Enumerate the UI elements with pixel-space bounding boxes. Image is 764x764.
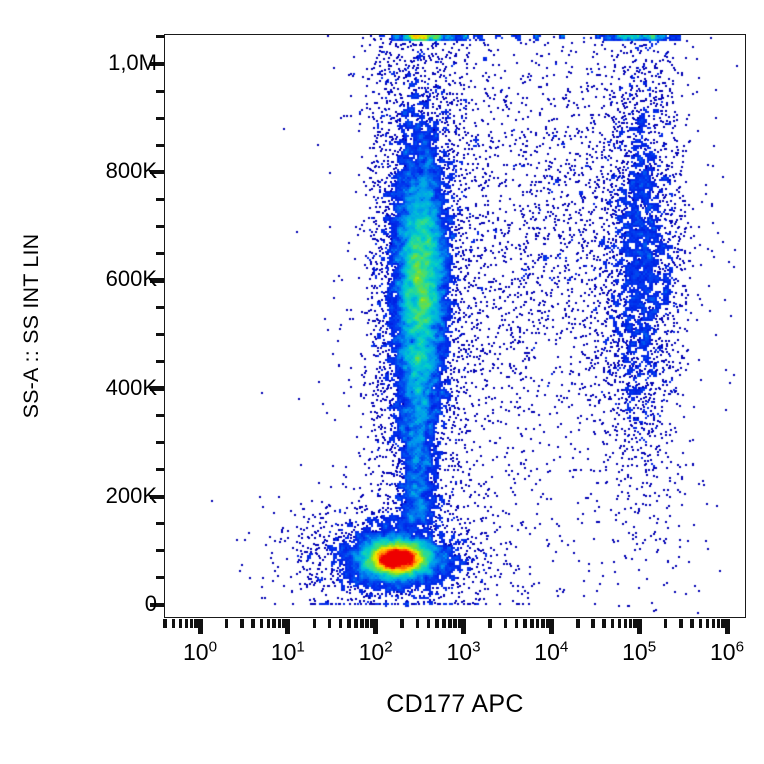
- y-tick-minor: [156, 576, 164, 579]
- x-tick-minor: [591, 619, 595, 628]
- x-tick-minor: [278, 619, 282, 628]
- y-tick-minor: [156, 90, 164, 93]
- x-tick-minor: [339, 619, 343, 628]
- x-tick-minor: [313, 619, 317, 628]
- y-axis-title: SS-A :: SS INT LIN: [14, 34, 48, 618]
- x-tick-minor: [541, 619, 545, 628]
- scatter-density-canvas: [165, 35, 744, 616]
- x-tick-minor: [530, 619, 534, 628]
- x-tick-label: 101: [271, 641, 305, 664]
- x-tick-major: [461, 619, 466, 634]
- x-tick-minor: [618, 619, 622, 628]
- x-tick-minor: [515, 619, 519, 628]
- x-tick-minor: [712, 619, 716, 628]
- x-tick-minor: [448, 619, 452, 628]
- x-tick-minor: [251, 619, 255, 628]
- x-tick-minor: [679, 619, 683, 628]
- x-tick-minor: [624, 619, 628, 628]
- x-tick-minor: [360, 619, 364, 628]
- x-tick-major: [637, 619, 642, 634]
- y-tick-minor: [156, 414, 164, 417]
- y-tick-minor: [156, 522, 164, 525]
- x-tick-minor: [260, 619, 264, 628]
- x-tick-minor: [504, 619, 508, 628]
- x-tick-minor: [435, 619, 439, 628]
- x-tick-exponent: 4: [560, 638, 568, 655]
- x-tick-minor: [347, 619, 351, 628]
- x-tick-major: [285, 619, 290, 634]
- x-tick-major: [725, 619, 730, 634]
- x-axis-title: CD177 APC: [164, 690, 746, 719]
- y-tick-minor: [156, 468, 164, 471]
- x-tick-minor: [442, 619, 446, 628]
- x-tick-minor: [427, 619, 431, 628]
- x-tick-minor: [690, 619, 694, 628]
- x-tick-label: 104: [534, 641, 568, 664]
- x-tick-minor: [611, 619, 615, 628]
- x-tick-major: [373, 619, 378, 634]
- x-tick-exponent: 5: [648, 638, 656, 655]
- x-tick-minor: [576, 619, 580, 628]
- x-tick-minor: [416, 619, 420, 628]
- y-tick-minor: [156, 198, 164, 201]
- x-tick-minor: [629, 619, 633, 628]
- x-tick-exponent: 3: [472, 638, 480, 655]
- x-tick-label: 106: [710, 641, 744, 664]
- flow-cytometry-figure: 0200K400K600K800K1,0M SS-A :: SS INT LIN…: [0, 0, 764, 764]
- x-tick-mantissa: 10: [183, 639, 209, 665]
- x-tick-minor: [172, 619, 176, 628]
- x-tick-minor: [190, 619, 194, 628]
- y-tick-label: 600K: [106, 268, 157, 290]
- x-tick-minor: [225, 619, 229, 628]
- x-tick-minor: [240, 619, 244, 628]
- x-tick-minor: [453, 619, 457, 628]
- x-tick-exponent: 1: [296, 638, 304, 655]
- x-tick-mantissa: 10: [446, 639, 472, 665]
- x-tick-exponent: 2: [384, 638, 392, 655]
- x-tick-minor: [185, 619, 189, 628]
- y-tick-minor: [156, 225, 164, 228]
- scatter-plot-area[interactable]: [164, 34, 746, 618]
- x-tick-minor: [179, 619, 183, 628]
- y-tick-minor: [156, 441, 164, 444]
- y-tick-minor: [156, 306, 164, 309]
- x-tick-minor: [717, 619, 721, 628]
- x-tick-mantissa: 10: [359, 639, 385, 665]
- x-tick-exponent: 6: [736, 638, 744, 655]
- x-tick-mantissa: 10: [534, 639, 560, 665]
- y-tick-label: 400K: [106, 377, 157, 399]
- x-tick-label: 100: [183, 641, 217, 664]
- y-tick-minor: [156, 144, 164, 147]
- x-tick-mantissa: 10: [622, 639, 648, 665]
- y-tick-minor: [156, 35, 164, 38]
- x-tick-minor: [267, 619, 271, 628]
- y-tick-minor: [156, 549, 164, 552]
- x-tick-label: 105: [622, 641, 656, 664]
- x-tick-minor: [699, 619, 703, 628]
- x-tick-minor: [664, 619, 668, 628]
- y-tick-minor: [156, 252, 164, 255]
- x-tick-minor: [272, 619, 276, 628]
- x-tick-minor: [488, 619, 492, 628]
- x-tick-label: 102: [359, 641, 393, 664]
- x-tick-minor: [602, 619, 606, 628]
- x-tick-minor: [163, 619, 167, 628]
- x-tick-minor: [523, 619, 527, 628]
- x-tick-mantissa: 10: [271, 639, 297, 665]
- y-tick-label: 200K: [106, 485, 157, 507]
- x-tick-minor: [706, 619, 710, 628]
- y-tick-label: 1,0M: [108, 52, 157, 74]
- x-tick-minor: [354, 619, 358, 628]
- y-tick-minor: [156, 360, 164, 363]
- y-tick-minor: [156, 333, 164, 336]
- y-tick-label: 800K: [106, 160, 157, 182]
- x-tick-exponent: 0: [209, 638, 217, 655]
- x-tick-label: 103: [446, 641, 480, 664]
- y-tick-minor: [156, 117, 164, 120]
- x-tick-minor: [536, 619, 540, 628]
- x-tick-minor: [328, 619, 332, 628]
- y-tick-label: 0: [145, 593, 157, 615]
- x-tick-major: [549, 619, 554, 634]
- x-tick-mantissa: 10: [710, 639, 736, 665]
- x-tick-minor: [400, 619, 404, 628]
- x-tick-major: [198, 619, 203, 634]
- x-tick-minor: [365, 619, 369, 628]
